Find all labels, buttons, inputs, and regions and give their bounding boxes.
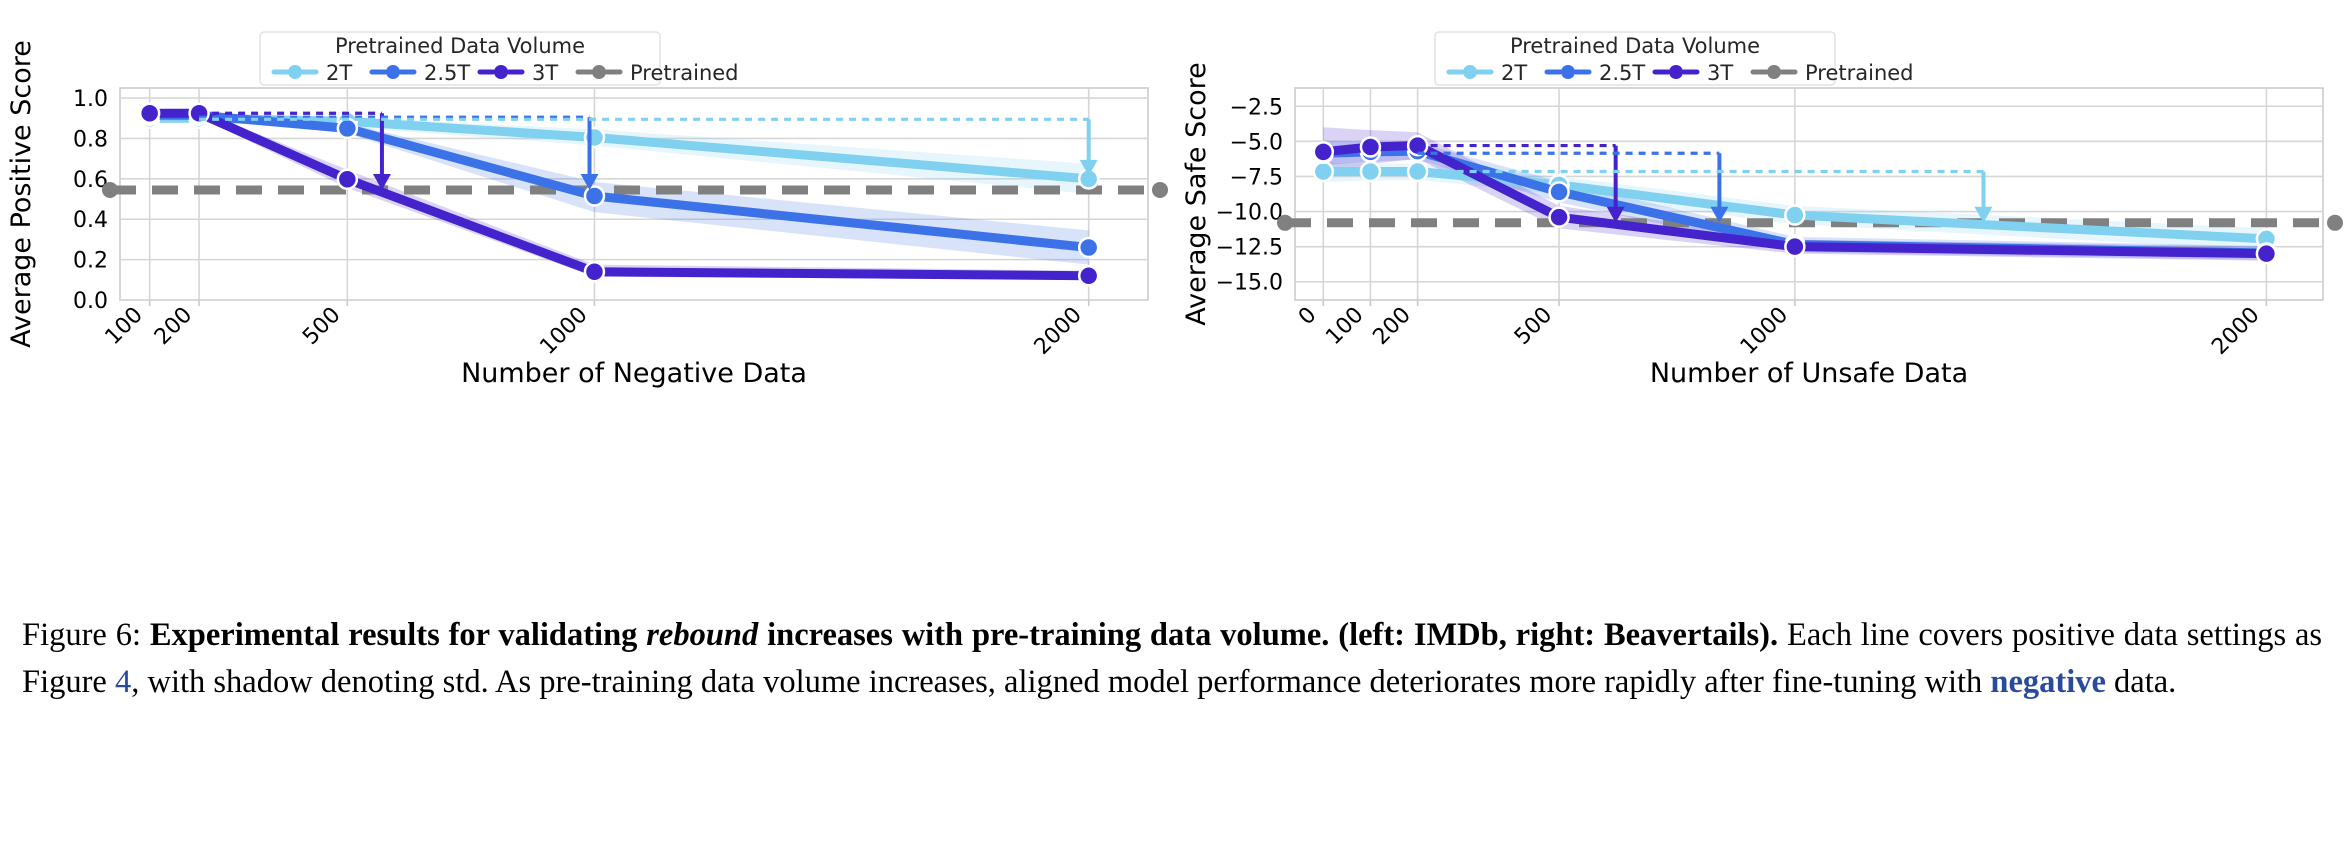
pretrained-marker-right xyxy=(2327,215,2343,231)
figure-caption: Figure 6: Experimental results for valid… xyxy=(22,612,2322,706)
legend-label-2.5T: 2.5T xyxy=(1599,61,1645,85)
data-point-2T xyxy=(1785,206,1804,225)
y-tick-label: 0.8 xyxy=(73,127,108,152)
data-point-2.5T xyxy=(585,187,604,206)
x-tick-label: 500 xyxy=(298,303,345,350)
x-axis-label: Number of Unsafe Data xyxy=(1650,358,1968,389)
y-tick-label: −10.0 xyxy=(1216,201,1283,226)
legend-title: Pretrained Data Volume xyxy=(335,34,585,58)
data-point-2.5T xyxy=(1079,238,1098,257)
x-tick-label: 200 xyxy=(1368,303,1415,350)
y-tick-label: 0.0 xyxy=(73,289,108,314)
legend-marker-2T xyxy=(1463,65,1477,79)
legend-label-2.5T: 2.5T xyxy=(424,61,470,85)
pretrained-marker-left xyxy=(1277,215,1293,231)
caption-text-part3: data. xyxy=(2106,664,2176,700)
legend-marker-Pretrained xyxy=(592,65,606,79)
data-point-3T xyxy=(1314,142,1333,161)
data-point-2.5T xyxy=(338,119,357,138)
y-tick-label: 0.4 xyxy=(73,208,108,233)
caption-italic-rebound: rebound xyxy=(646,617,758,653)
legend-marker-2T xyxy=(288,65,302,79)
legend-marker-2.5T xyxy=(1561,65,1575,79)
data-point-2.5T xyxy=(1550,182,1569,201)
y-tick-label: −15.0 xyxy=(1216,271,1283,296)
data-point-3T xyxy=(1079,266,1098,285)
legend: Pretrained Data Volume2T2.5T3TPretrained xyxy=(1435,32,1914,85)
x-tick-label: 100 xyxy=(1321,303,1368,350)
chart-beavertails-svg: −15.0−12.5−10.0−7.5−5.0−2.50100200500100… xyxy=(1175,0,2350,600)
chart-imdb: 0.00.20.40.60.81.010020050010002000Numbe… xyxy=(0,0,1175,600)
data-point-3T xyxy=(1785,237,1804,256)
legend-label-3T: 3T xyxy=(1707,61,1733,85)
x-axis-label: Number of Negative Data xyxy=(461,358,807,389)
x-tick-label: 2000 xyxy=(1030,303,1087,360)
caption-bold-part2: increases with pre-training data volume.… xyxy=(758,617,1778,653)
data-point-3T xyxy=(338,170,357,189)
plot-area xyxy=(1295,88,2323,300)
y-tick-label: −12.5 xyxy=(1216,236,1283,261)
caption-figure-number: Figure 6: xyxy=(22,617,141,653)
legend-label-2T: 2T xyxy=(1501,61,1527,85)
legend-label-2T: 2T xyxy=(326,61,352,85)
pretrained-marker-left xyxy=(102,182,118,198)
y-tick-label: 1.0 xyxy=(73,87,108,112)
charts-row: 0.00.20.40.60.81.010020050010002000Numbe… xyxy=(0,0,2350,600)
pretrained-marker-right xyxy=(1152,182,1168,198)
x-tick-label: 1000 xyxy=(535,303,592,360)
data-point-2T xyxy=(1314,162,1333,181)
legend-marker-Pretrained xyxy=(1767,65,1781,79)
legend-title: Pretrained Data Volume xyxy=(1510,34,1760,58)
y-axis-label: Average Safe Score xyxy=(1181,62,1212,325)
legend-label-Pretrained: Pretrained xyxy=(1805,61,1914,85)
legend-marker-3T xyxy=(494,65,508,79)
data-point-3T xyxy=(140,104,159,123)
data-point-3T xyxy=(1361,137,1380,156)
chart-beavertails: −15.0−12.5−10.0−7.5−5.0−2.50100200500100… xyxy=(1175,0,2350,600)
legend-marker-2.5T xyxy=(386,65,400,79)
data-point-3T xyxy=(1550,208,1569,227)
caption-text-part2: , with shadow denoting std. As pre-train… xyxy=(131,664,1990,700)
caption-highlight-negative: negative xyxy=(1990,664,2106,700)
y-tick-label: −7.5 xyxy=(1230,165,1283,190)
data-point-3T xyxy=(585,262,604,281)
figure-container: 0.00.20.40.60.81.010020050010002000Numbe… xyxy=(0,0,2350,844)
legend: Pretrained Data Volume2T2.5T3TPretrained xyxy=(260,32,739,85)
caption-bold-part1: Experimental results for validating xyxy=(150,617,646,653)
x-tick-label: 500 xyxy=(1510,303,1557,350)
x-tick-label: 1000 xyxy=(1736,303,1793,360)
data-point-2T xyxy=(1361,162,1380,181)
x-tick-label: 0 xyxy=(1294,303,1322,331)
legend-label-3T: 3T xyxy=(532,61,558,85)
x-tick-label: 200 xyxy=(150,303,197,350)
y-tick-label: −2.5 xyxy=(1230,95,1283,120)
y-axis-label: Average Positive Score xyxy=(6,40,37,348)
x-tick-label: 2000 xyxy=(2207,303,2264,360)
data-point-3T xyxy=(2257,244,2276,263)
legend-label-Pretrained: Pretrained xyxy=(630,61,739,85)
chart-imdb-svg: 0.00.20.40.60.81.010020050010002000Numbe… xyxy=(0,0,1175,600)
legend-marker-3T xyxy=(1669,65,1683,79)
y-tick-label: −5.0 xyxy=(1230,130,1283,155)
caption-figure-ref-link[interactable]: 4 xyxy=(115,664,131,700)
y-tick-label: 0.2 xyxy=(73,249,108,274)
